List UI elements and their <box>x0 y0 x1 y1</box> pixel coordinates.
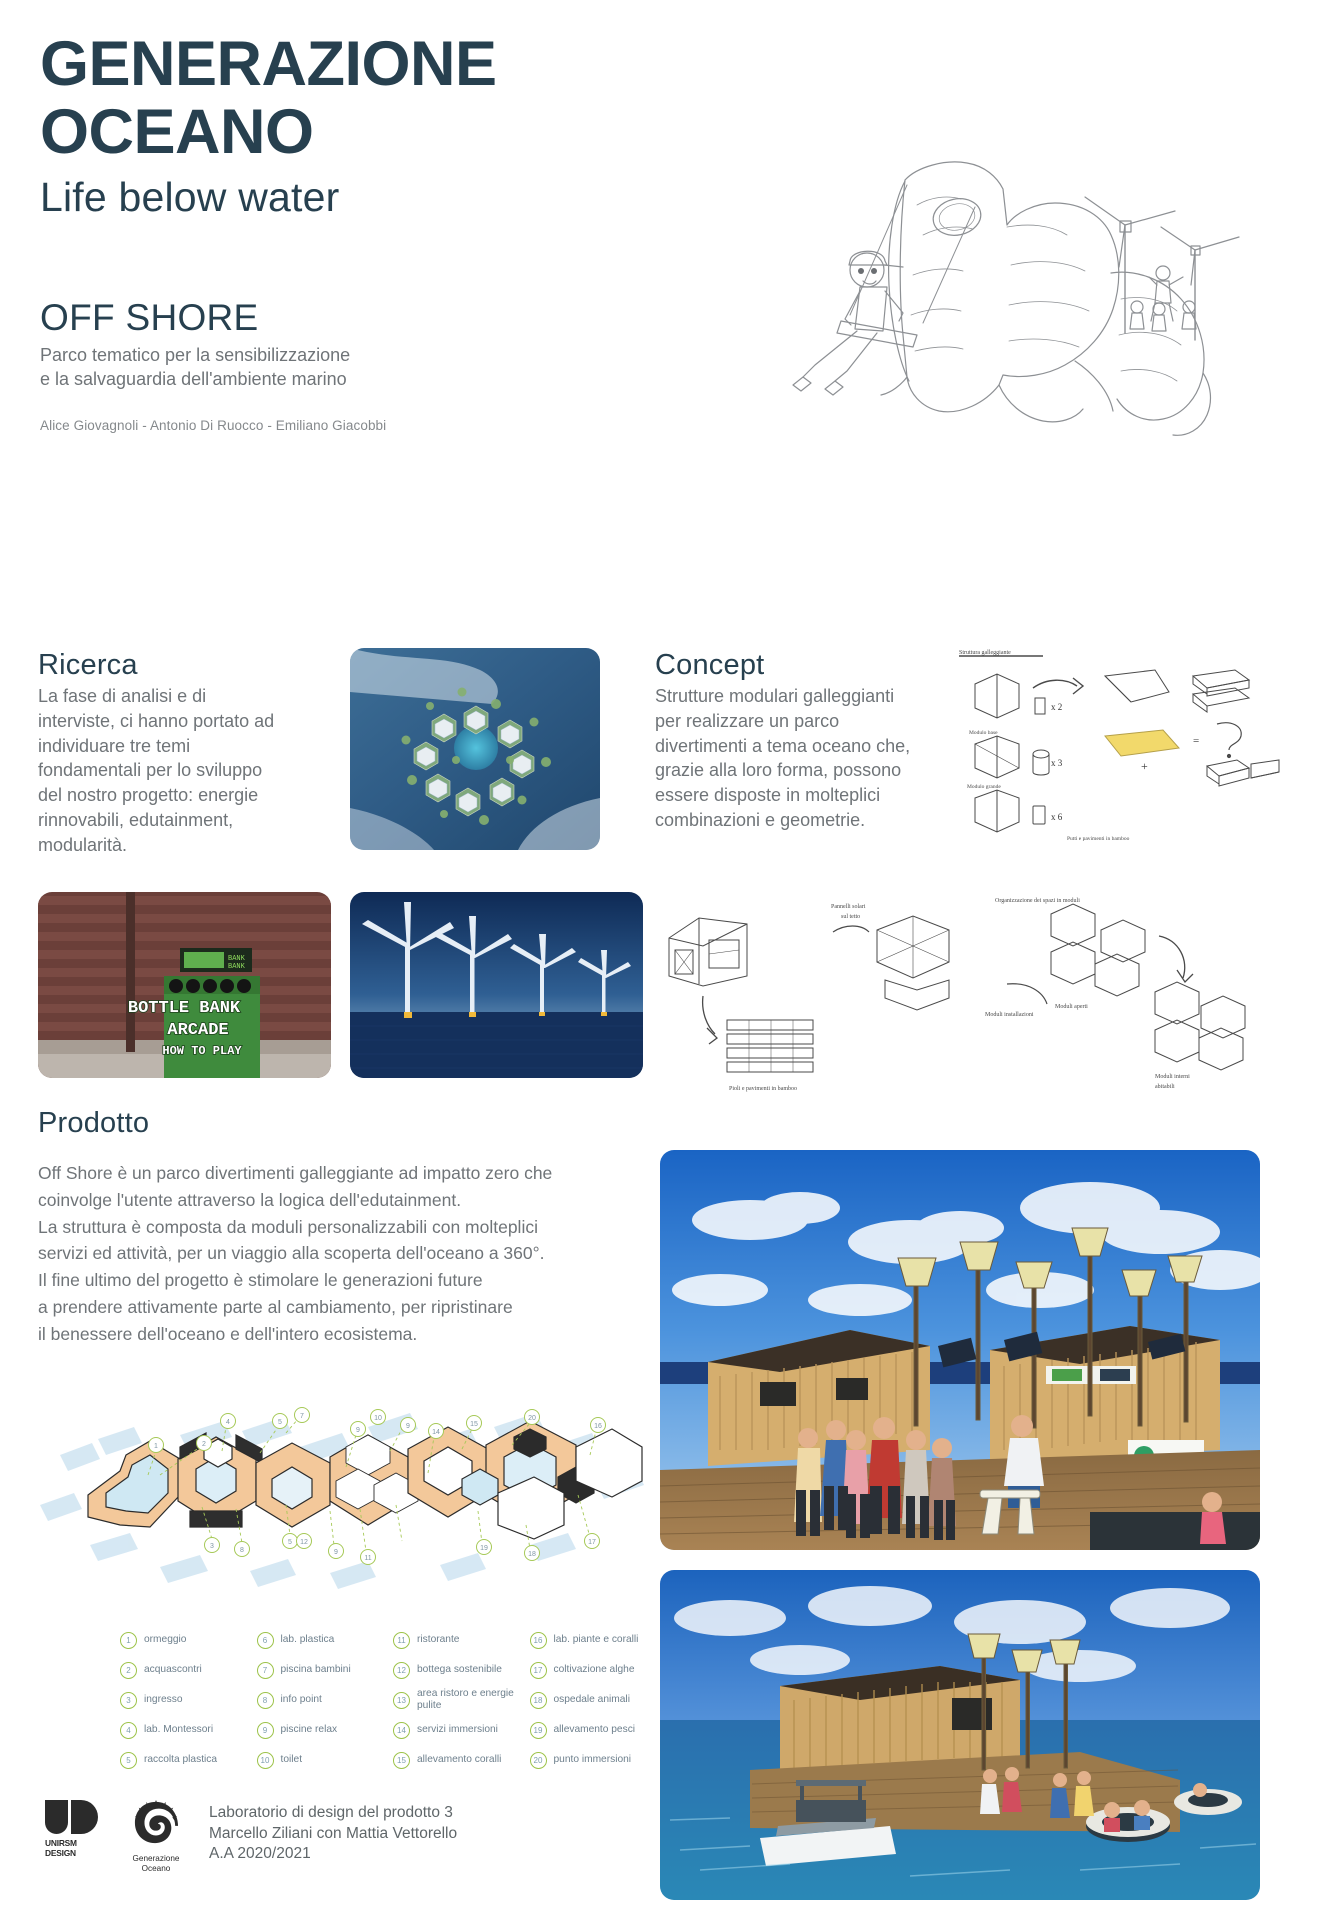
svg-text:x 3: x 3 <box>1051 758 1063 768</box>
legend-item: 10toilet <box>257 1745 388 1775</box>
section-ricerca: Ricerca La fase di analisi e di intervis… <box>38 650 288 858</box>
legend-label: piscina bambini <box>281 1664 351 1676</box>
legend-label: bottega sostenibile <box>417 1664 502 1676</box>
legend-number: 18 <box>530 1692 547 1709</box>
legend-label: lab. piante e coralli <box>554 1634 639 1646</box>
legend-label: acquascontri <box>144 1664 202 1676</box>
svg-text:15: 15 <box>470 1421 478 1428</box>
legend-label: toilet <box>281 1754 303 1766</box>
legend-number: 19 <box>530 1722 547 1739</box>
legend-label: lab. Montessori <box>144 1724 213 1736</box>
concept-heading: Concept <box>655 650 925 682</box>
legend-item: 16lab. piante e coralli <box>530 1625 661 1655</box>
legend-item: 19allevamento pesci <box>530 1715 661 1745</box>
project-title: OFF SHORE <box>40 297 660 339</box>
legend-item: 3ingresso <box>120 1685 251 1715</box>
bottle-bank-arcade-image: BANK BANK BOTTLE BANK ARCADE HOW TO PLAY <box>38 892 331 1078</box>
svg-text:BANK: BANK <box>228 963 246 971</box>
svg-text:1: 1 <box>154 1443 158 1450</box>
legend-label: area ristoro e energie pulite <box>417 1688 524 1713</box>
title-line-1: GENERAZIONE <box>40 30 660 98</box>
ud-letter-u-icon <box>45 1800 68 1834</box>
svg-text:Moduli interni: Moduli interni <box>1155 1074 1190 1080</box>
bottle-bank-title-2: ARCADE <box>167 1021 228 1040</box>
svg-text:14: 14 <box>432 1429 440 1436</box>
svg-text:Pannelli solari: Pannelli solari <box>831 904 866 910</box>
svg-text:3: 3 <box>210 1543 214 1550</box>
prodotto-line-7: il benessere dell'oceano e dell'intero e… <box>38 1321 663 1348</box>
svg-text:x 2: x 2 <box>1051 702 1062 712</box>
prodotto-line-6: a prendere attivamente parte al cambiame… <box>38 1294 663 1321</box>
svg-text:17: 17 <box>588 1539 596 1546</box>
poster-footer: UNIRSM DESIGN Generazione Oceano Labor <box>45 1800 457 1875</box>
legend-label: lab. plastica <box>281 1634 335 1646</box>
legend-label: ospedale animali <box>554 1694 630 1706</box>
legend-item: 2acquascontri <box>120 1655 251 1685</box>
bottle-bank-title-3: HOW TO PLAY <box>162 1044 242 1058</box>
svg-text:8: 8 <box>240 1547 244 1554</box>
credit-line-3: A.A 2020/2021 <box>209 1844 457 1865</box>
legend-label: allevamento coralli <box>417 1754 501 1766</box>
legend-number: 1 <box>120 1632 137 1649</box>
ud-letter-d-icon <box>71 1800 98 1834</box>
page-subtitle: Life below water <box>40 174 660 221</box>
generazione-oceano-label: Generazione Oceano <box>125 1854 187 1875</box>
svg-text:10: 10 <box>374 1415 382 1422</box>
svg-text:Moduli installazioni: Moduli installazioni <box>985 1012 1034 1018</box>
legend-label: punto immersioni <box>554 1754 632 1766</box>
legend-number: 16 <box>530 1632 547 1649</box>
svg-text:x 6: x 6 <box>1051 812 1063 822</box>
svg-text:2: 2 <box>202 1441 206 1448</box>
render-deck-image <box>660 1150 1260 1550</box>
legend-number: 13 <box>393 1692 410 1709</box>
legend-label: raccolta plastica <box>144 1754 217 1766</box>
project-description-line-1: Parco tematico per la sensibilizzazione <box>40 343 660 367</box>
generazione-oceano-logo: Generazione Oceano <box>125 1800 187 1875</box>
legend-number: 10 <box>257 1752 274 1769</box>
legend-label: ingresso <box>144 1694 183 1706</box>
legend-item: 7piscina bambini <box>257 1655 388 1685</box>
svg-text:Putti e pavimenti in bamboo: Putti e pavimenti in bamboo <box>1067 836 1130 842</box>
wind-turbines-image <box>350 892 643 1078</box>
prodotto-line-4: servizi ed attività, per un viaggio alla… <box>38 1240 663 1267</box>
credit-line-1: Laboratorio di design del prodotto 3 <box>209 1803 457 1824</box>
poster-header: GENERAZIONE OCEANO Life below water OFF … <box>40 30 660 433</box>
turtle-sketch-illustration <box>655 85 1275 475</box>
legend-number: 12 <box>393 1662 410 1679</box>
legend-item: 4lab. Montessori <box>120 1715 251 1745</box>
project-description: Parco tematico per la sensibilizzazione … <box>40 343 660 392</box>
legend-number: 17 <box>530 1662 547 1679</box>
legend-number: 2 <box>120 1662 137 1679</box>
prodotto-line-3: La struttura è composta da moduli person… <box>38 1214 663 1241</box>
legend-number: 14 <box>393 1722 410 1739</box>
project-description-line-2: e la salvaguardia dell'ambiente marino <box>40 367 660 391</box>
svg-text:12: 12 <box>300 1539 308 1546</box>
svg-text:5: 5 <box>288 1539 292 1546</box>
legend-item: 20punto immersioni <box>530 1745 661 1775</box>
legend-number: 5 <box>120 1752 137 1769</box>
legend-item: 6lab. plastica <box>257 1625 388 1655</box>
prodotto-heading: Prodotto <box>38 1108 149 1140</box>
legend-label: allevamento pesci <box>554 1724 636 1736</box>
go-label-line-2: Oceano <box>125 1864 187 1874</box>
poster-root: GENERAZIONE OCEANO Life below water OFF … <box>0 0 1318 1920</box>
svg-text:BANK: BANK <box>228 955 246 963</box>
legend-item: 1ormeggio <box>120 1625 251 1655</box>
legend-label: ristorante <box>417 1634 459 1646</box>
legend-item: 9piscine relax <box>257 1715 388 1745</box>
svg-text:16: 16 <box>594 1423 602 1430</box>
aerial-render-image <box>350 648 600 850</box>
unirsm-design-label: UNIRSM DESIGN <box>45 1838 103 1858</box>
svg-text:11: 11 <box>364 1555 371 1562</box>
svg-text:Struttura galleggiante: Struttura galleggiante <box>959 650 1011 656</box>
floor-plan-diagram: 1 2 3 4 5 5 7 8 9 9 9 10 11 12 14 15 16 <box>30 1385 660 1625</box>
svg-text:+: + <box>1141 759 1148 773</box>
legend-item: 17coltivazione alghe <box>530 1655 661 1685</box>
svg-text:7: 7 <box>300 1413 304 1420</box>
course-credits: Laboratorio di design del prodotto 3 Mar… <box>209 1800 457 1865</box>
svg-text:Modulo base: Modulo base <box>969 730 998 736</box>
svg-text:sul tetto: sul tetto <box>841 914 860 920</box>
page-title: GENERAZIONE OCEANO <box>40 30 660 166</box>
legend-item: 11ristorante <box>393 1625 524 1655</box>
svg-text:Pioli e pavimenti in bamboo: Pioli e pavimenti in bamboo <box>729 1086 797 1092</box>
legend-label: info point <box>281 1694 322 1706</box>
concept-body: Strutture modulari galleggianti per real… <box>655 684 925 833</box>
prodotto-body: Off Shore è un parco divertimenti galleg… <box>38 1160 663 1347</box>
unirsm-design-logo: UNIRSM DESIGN <box>45 1800 103 1858</box>
legend-label: ormeggio <box>144 1634 186 1646</box>
prodotto-line-2: coinvolge l'utente attraverso la logica … <box>38 1187 663 1214</box>
legend-number: 3 <box>120 1692 137 1709</box>
legend-number: 20 <box>530 1752 547 1769</box>
legend-item: 14servizi immersioni <box>393 1715 524 1745</box>
svg-text:abitabili: abitabili <box>1155 1084 1175 1090</box>
svg-text:9: 9 <box>356 1427 360 1434</box>
legend-label: servizi immersioni <box>417 1724 498 1736</box>
svg-text:Modulo grande: Modulo grande <box>967 784 1001 790</box>
legend-item: 18ospedale animali <box>530 1685 661 1715</box>
svg-text:18: 18 <box>528 1551 536 1558</box>
legend-label: piscine relax <box>281 1724 338 1736</box>
ricerca-heading: Ricerca <box>38 650 288 682</box>
svg-text:4: 4 <box>226 1419 230 1426</box>
svg-text:=: = <box>1193 735 1199 747</box>
ricerca-body: La fase di analisi e di interviste, ci h… <box>38 684 288 858</box>
section-concept: Concept Strutture modulari galleggianti … <box>655 650 925 833</box>
legend-item: 5raccolta plastica <box>120 1745 251 1775</box>
legend-number: 8 <box>257 1692 274 1709</box>
concept-sketch-top: Struttura galleggiante <box>955 648 1285 843</box>
prodotto-line-5: Il fine ultimo del progetto è stimolare … <box>38 1267 663 1294</box>
go-label-line-1: Generazione <box>125 1854 187 1864</box>
legend-label: coltivazione alghe <box>554 1664 635 1676</box>
wave-spiral-icon <box>133 1800 179 1846</box>
legend-number: 11 <box>393 1632 410 1649</box>
render-water-image <box>660 1570 1260 1900</box>
legend-item: 12bottega sostenibile <box>393 1655 524 1685</box>
prodotto-line-1: Off Shore è un parco divertimenti galleg… <box>38 1160 663 1187</box>
legend-number: 9 <box>257 1722 274 1739</box>
legend-item: 8info point <box>257 1685 388 1715</box>
legend-item: 13area ristoro e energie pulite <box>393 1685 524 1715</box>
credit-line-2: Marcello Ziliani con Mattia Vettorello <box>209 1824 457 1845</box>
svg-text:Moduli aperti: Moduli aperti <box>1055 1004 1088 1010</box>
svg-text:Organizzazione dei spazi in mo: Organizzazione dei spazi in moduli <box>995 898 1080 904</box>
legend-number: 4 <box>120 1722 137 1739</box>
legend-number: 15 <box>393 1752 410 1769</box>
ud-monogram-icon <box>45 1800 103 1834</box>
legend-number: 6 <box>257 1632 274 1649</box>
svg-text:9: 9 <box>406 1423 410 1430</box>
legend-number: 7 <box>257 1662 274 1679</box>
concept-sketch-bottom: Pioli e pavimenti in bamboo Pannelli sol… <box>655 880 1285 1095</box>
title-line-2: OCEANO <box>40 98 660 166</box>
plan-legend: 1ormeggio 2acquascontri 3ingresso 4lab. … <box>120 1625 660 1775</box>
svg-text:9: 9 <box>334 1549 338 1556</box>
svg-text:20: 20 <box>528 1415 536 1422</box>
authors-line: Alice Giovagnoli - Antonio Di Ruocco - E… <box>40 418 660 433</box>
legend-item: 15allevamento coralli <box>393 1745 524 1775</box>
bottle-bank-title-1: BOTTLE BANK <box>128 999 241 1018</box>
svg-text:5: 5 <box>278 1419 282 1426</box>
svg-text:19: 19 <box>480 1545 488 1552</box>
